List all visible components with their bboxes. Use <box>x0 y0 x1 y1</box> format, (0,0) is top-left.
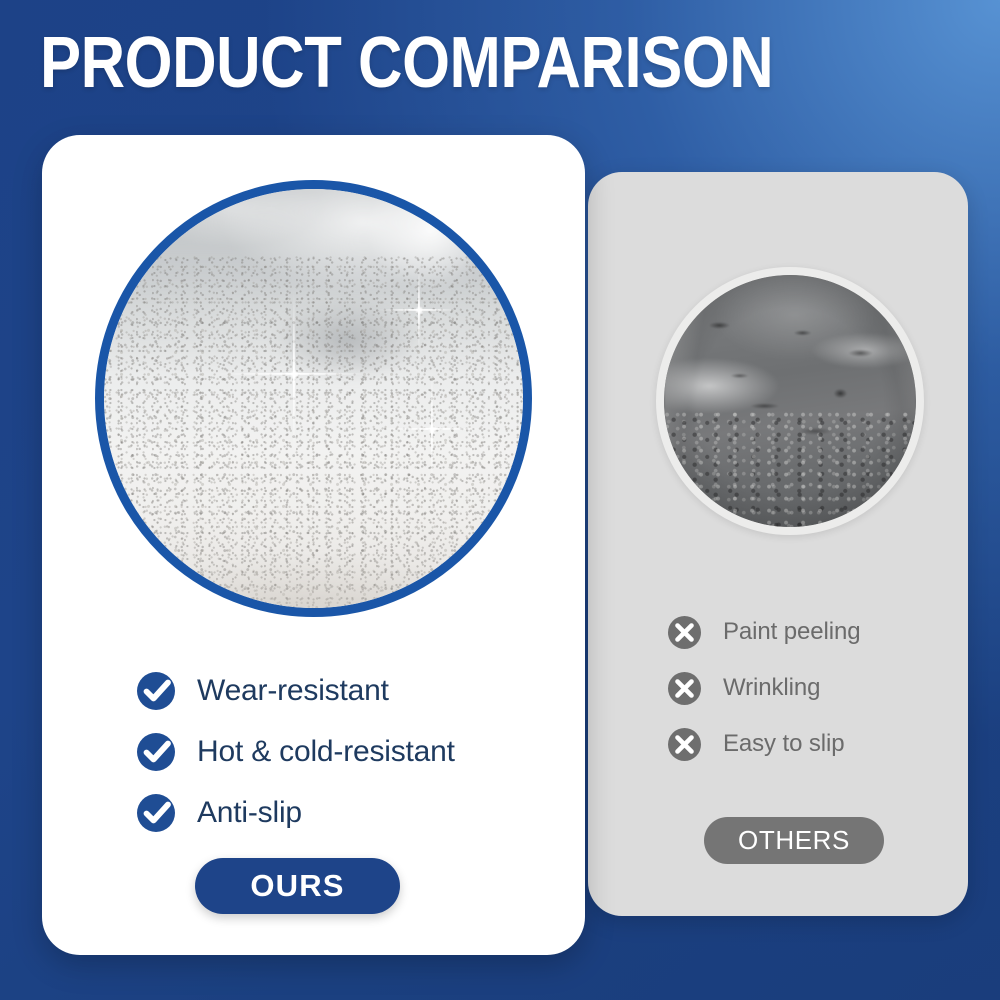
list-item: Wrinkling <box>668 660 958 716</box>
others-badge[interactable]: OTHERS <box>704 817 884 864</box>
list-item: Easy to slip <box>668 716 958 772</box>
ours-badge[interactable]: OURS <box>195 858 400 914</box>
product-comparison-poster: Paint peeling Wrinkling Easy <box>0 0 1000 1000</box>
ours-card: Wear-resistant Hot & cold-resistant <box>42 135 585 955</box>
list-item-label: Hot & cold-resistant <box>197 735 455 769</box>
floor-grain-bottom <box>104 482 523 608</box>
damaged-gray-floor-photo <box>664 275 916 527</box>
check-circle-icon <box>137 733 175 771</box>
list-item: Anti-slip <box>137 782 567 843</box>
list-item-label: Wrinkling <box>723 674 820 702</box>
list-item-label: Paint peeling <box>723 618 860 646</box>
others-photo-frame <box>656 267 924 535</box>
list-item-label: Easy to slip <box>723 730 845 758</box>
glossy-epoxy-floor-photo <box>104 189 523 608</box>
ours-photo-frame <box>95 180 532 617</box>
list-item: Paint peeling <box>668 604 958 660</box>
list-item: Hot & cold-resistant <box>137 721 567 782</box>
list-item-label: Wear-resistant <box>197 674 389 708</box>
list-item-label: Anti-slip <box>197 796 302 830</box>
page-title: PRODUCT COMPARISON <box>40 24 835 102</box>
ours-features-list: Wear-resistant Hot & cold-resistant <box>137 660 567 843</box>
x-circle-icon <box>668 728 701 761</box>
list-item: Wear-resistant <box>137 660 567 721</box>
photo-vignette <box>664 275 916 527</box>
check-circle-icon <box>137 794 175 832</box>
x-circle-icon <box>668 616 701 649</box>
x-circle-icon <box>668 672 701 705</box>
others-drawbacks-list: Paint peeling Wrinkling Easy <box>668 604 958 772</box>
check-circle-icon <box>137 672 175 710</box>
others-panel: Paint peeling Wrinkling Easy <box>588 172 968 916</box>
